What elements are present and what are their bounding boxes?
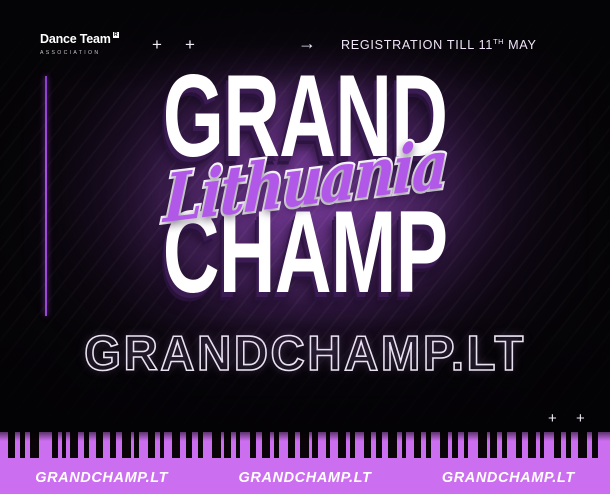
piano-black-key <box>148 432 155 458</box>
piano-black-key <box>212 432 221 458</box>
logo-wordmark-text: Dance Team <box>40 32 111 46</box>
piano-black-key <box>402 432 406 458</box>
arrow-right-icon: → <box>298 34 316 52</box>
plus-icon-corner-1: + <box>548 410 557 427</box>
piano-black-key <box>122 432 131 458</box>
piano-black-key <box>134 432 139 458</box>
registration-prefix: REGISTRATION TILL 11 <box>341 38 493 52</box>
piano-black-key <box>376 432 382 458</box>
poster-canvas: Dance Team R ASSOCIATION + + → REGISTRAT… <box>0 0 610 494</box>
piano-black-key <box>236 432 240 458</box>
footer-url-labels: GRANDCHAMP.LT GRANDCHAMP.LT GRANDCHAMP.L… <box>0 462 610 494</box>
piano-key-footer-band: GRANDCHAMP.LT GRANDCHAMP.LT GRANDCHAMP.L… <box>0 432 610 494</box>
piano-black-key <box>338 432 346 458</box>
piano-black-key <box>110 432 116 458</box>
piano-black-key <box>172 432 180 458</box>
title-line-champ: CHAMP <box>55 205 555 300</box>
main-title-block: GRAND CHAMP <box>0 78 610 292</box>
piano-black-key <box>528 432 536 458</box>
piano-black-key <box>540 432 544 458</box>
piano-black-key <box>70 432 78 458</box>
piano-black-key <box>578 432 587 458</box>
piano-black-key <box>452 432 458 458</box>
piano-black-key <box>20 432 25 458</box>
piano-black-key <box>554 432 561 458</box>
registration-suffix: MAY <box>504 38 537 52</box>
piano-black-key <box>364 432 371 458</box>
footer-url-label: GRANDCHAMP.LT <box>239 470 372 486</box>
piano-black-key <box>62 432 66 458</box>
dance-team-logo[interactable]: Dance Team R ASSOCIATION <box>40 30 120 57</box>
title-line-grand: GRAND <box>55 69 555 164</box>
piano-black-key <box>160 432 164 458</box>
logo-subtitle: ASSOCIATION <box>40 49 120 57</box>
piano-black-key <box>414 432 421 458</box>
piano-black-key <box>300 432 309 458</box>
piano-black-key <box>592 432 598 458</box>
piano-black-key <box>490 432 497 458</box>
plus-icon-corner-2: + <box>576 410 585 427</box>
piano-black-key <box>96 432 103 458</box>
piano-black-key <box>566 432 571 458</box>
piano-black-key <box>440 432 448 458</box>
registered-trademark-icon: R <box>113 32 119 38</box>
plus-icon-header-1: + <box>152 36 162 53</box>
logo-wordmark: Dance Team R <box>40 33 111 46</box>
piano-black-key <box>186 432 192 458</box>
piano-black-keys <box>0 432 610 458</box>
footer-url-label: GRANDCHAMP.LT <box>442 470 575 486</box>
outlined-website-url[interactable]: GRANDCHAMP.LT <box>9 326 601 382</box>
piano-black-key <box>502 432 507 458</box>
piano-black-key <box>426 432 431 458</box>
piano-black-key <box>464 432 468 458</box>
piano-black-key <box>274 432 279 458</box>
piano-black-key <box>250 432 256 458</box>
piano-black-key <box>516 432 522 458</box>
registration-ordinal: TH <box>493 37 504 46</box>
piano-black-key <box>388 432 397 458</box>
piano-black-key <box>326 432 330 458</box>
registration-deadline-text: REGISTRATION TILL 11TH MAY <box>341 37 537 52</box>
piano-black-key <box>52 432 58 458</box>
piano-black-key <box>84 432 89 458</box>
piano-black-key <box>288 432 295 458</box>
piano-black-key <box>224 432 231 458</box>
piano-black-key <box>262 432 270 458</box>
piano-black-key <box>8 432 15 458</box>
piano-black-key <box>312 432 318 458</box>
piano-black-key <box>198 432 203 458</box>
piano-black-key <box>30 432 39 458</box>
piano-black-key <box>350 432 355 458</box>
piano-black-key <box>478 432 487 458</box>
footer-url-label: GRANDCHAMP.LT <box>35 470 168 486</box>
